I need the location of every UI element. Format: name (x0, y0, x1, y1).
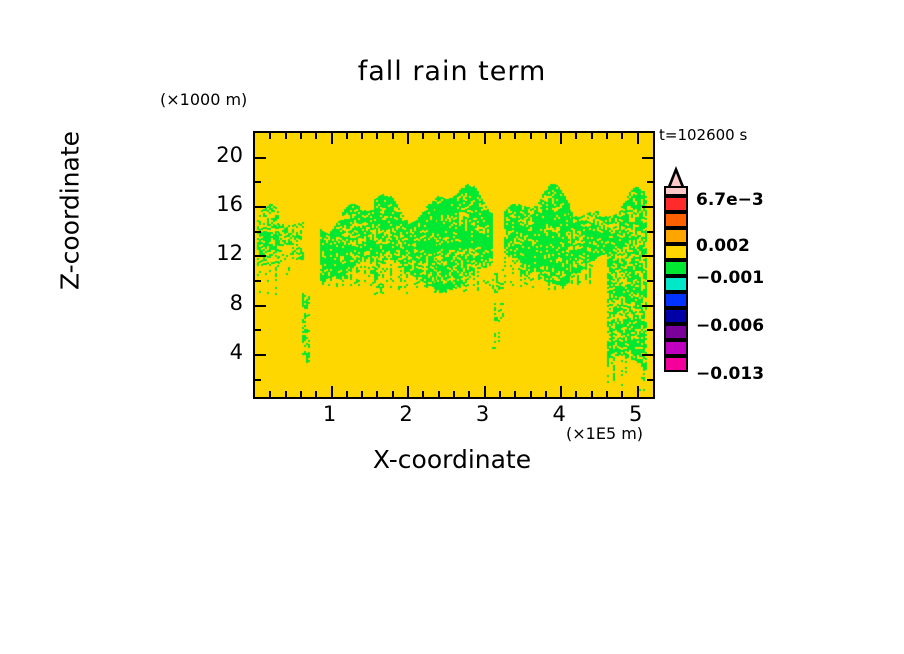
colorbar-band-top (664, 186, 688, 196)
x-minor-tick (438, 133, 440, 139)
x-major-tick (560, 386, 562, 397)
x-tick-label: 1 (310, 402, 350, 426)
x-minor-tick (438, 391, 440, 397)
x-minor-tick (621, 133, 623, 139)
colorbar-tick-label: 0.002 (696, 236, 750, 256)
y-tick-label: 8 (197, 291, 243, 315)
x-major-tick (637, 133, 639, 144)
plot-area (253, 131, 655, 399)
x-minor-tick (575, 391, 577, 397)
x-minor-tick (315, 133, 317, 139)
y-major-tick (255, 255, 266, 257)
contour-field (255, 133, 653, 397)
y-major-tick (642, 255, 653, 257)
x-minor-tick (591, 391, 593, 397)
y-minor-tick (255, 231, 261, 233)
x-minor-tick (300, 133, 302, 139)
x-minor-tick (346, 133, 348, 139)
y-minor-tick (255, 181, 261, 183)
x-minor-tick (376, 391, 378, 397)
timestamp-annotation: t=102600 s (659, 126, 747, 144)
colorbar-band (664, 292, 688, 308)
x-minor-tick (530, 133, 532, 139)
x-minor-tick (621, 391, 623, 397)
x-major-tick (484, 133, 486, 144)
colorbar-band (664, 212, 688, 228)
y-minor-tick (255, 329, 261, 331)
colorbar-band (664, 244, 688, 260)
x-axis-unit-label: (×1E5 m) (566, 424, 643, 443)
colorbar-tick-label: −0.006 (696, 316, 764, 336)
x-minor-tick (300, 391, 302, 397)
x-minor-tick (591, 133, 593, 139)
x-minor-tick (285, 391, 287, 397)
y-major-tick (642, 206, 653, 208)
y-axis-unit-label: (×1000 m) (160, 90, 247, 109)
x-tick-label: 4 (539, 402, 579, 426)
colorbar-band (664, 340, 688, 356)
colorbar-band (664, 324, 688, 340)
x-major-tick (407, 386, 409, 397)
colorbar-band (664, 308, 688, 324)
y-minor-tick (647, 329, 653, 331)
y-minor-tick (255, 379, 261, 381)
colorbar-band (664, 260, 688, 276)
x-minor-tick (499, 391, 501, 397)
x-minor-tick (269, 391, 271, 397)
colorbar-tick-label: 6.7e−3 (696, 190, 764, 210)
colorbar-band (664, 276, 688, 292)
y-major-tick (642, 305, 653, 307)
x-minor-tick (606, 391, 608, 397)
x-tick-label: 3 (463, 402, 503, 426)
y-major-tick (255, 157, 266, 159)
y-minor-tick (255, 280, 261, 282)
x-tick-label: 5 (616, 402, 656, 426)
y-major-tick (255, 305, 266, 307)
x-minor-tick (545, 391, 547, 397)
x-minor-tick (514, 133, 516, 139)
x-minor-tick (361, 391, 363, 397)
y-major-tick (255, 206, 266, 208)
chart-title: fall rain term (0, 56, 904, 87)
x-major-tick (560, 133, 562, 144)
x-minor-tick (346, 391, 348, 397)
x-minor-tick (315, 391, 317, 397)
x-minor-tick (468, 391, 470, 397)
x-minor-tick (499, 133, 501, 139)
colorbar-band (664, 196, 688, 212)
x-axis-title: X-coordinate (0, 445, 904, 474)
y-axis-title: Z-coordinate (56, 81, 85, 341)
y-tick-label: 20 (197, 143, 243, 167)
y-major-tick (642, 157, 653, 159)
y-minor-tick (647, 379, 653, 381)
x-minor-tick (422, 391, 424, 397)
x-minor-tick (392, 391, 394, 397)
x-minor-tick (392, 133, 394, 139)
y-tick-label: 16 (197, 192, 243, 216)
x-minor-tick (422, 133, 424, 139)
x-minor-tick (514, 391, 516, 397)
x-minor-tick (606, 133, 608, 139)
colorbar-band (664, 356, 688, 372)
y-tick-label: 4 (197, 340, 243, 364)
x-major-tick (484, 386, 486, 397)
x-minor-tick (468, 133, 470, 139)
x-major-tick (407, 133, 409, 144)
y-minor-tick (647, 181, 653, 183)
x-minor-tick (453, 133, 455, 139)
y-minor-tick (647, 280, 653, 282)
x-minor-tick (361, 133, 363, 139)
x-minor-tick (545, 133, 547, 139)
x-minor-tick (269, 133, 271, 139)
x-minor-tick (575, 133, 577, 139)
x-minor-tick (285, 133, 287, 139)
x-major-tick (637, 386, 639, 397)
x-minor-tick (376, 133, 378, 139)
colorbar-tick-label: −0.001 (696, 268, 764, 288)
colorbar-band (664, 228, 688, 244)
x-tick-label: 2 (386, 402, 426, 426)
x-minor-tick (530, 391, 532, 397)
x-major-tick (331, 386, 333, 397)
y-tick-label: 12 (197, 241, 243, 265)
y-major-tick (255, 354, 266, 356)
x-major-tick (331, 133, 333, 144)
colorbar-tick-label: −0.013 (696, 364, 764, 384)
y-minor-tick (647, 231, 653, 233)
x-minor-tick (453, 391, 455, 397)
y-major-tick (642, 354, 653, 356)
